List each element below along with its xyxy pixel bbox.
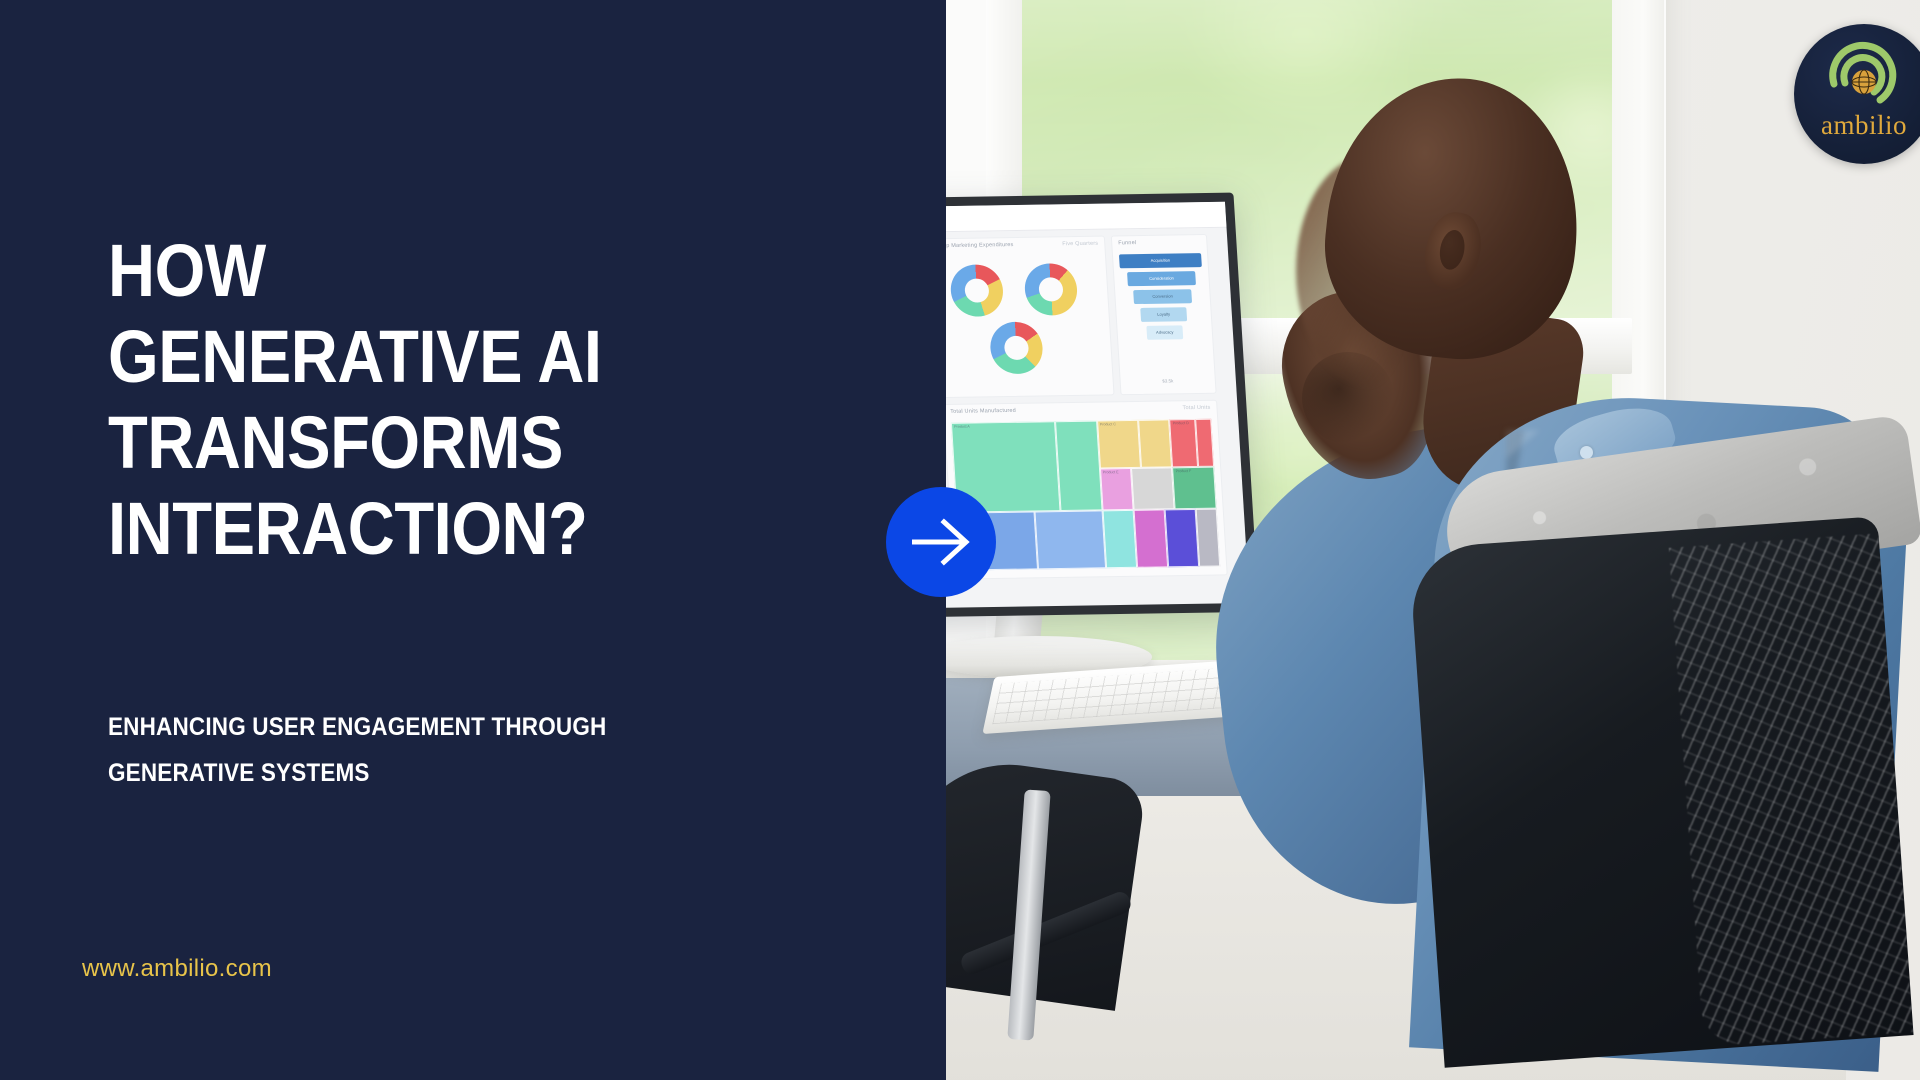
chair-mesh — [1669, 533, 1913, 1046]
poster-canvas: Five Year Q2CC2CQ7Q8Q9D10Q11D12D13D14D15… — [0, 0, 1920, 1080]
page-subtitle: ENHANCING USER ENGAGEMENT THROUGH GENERA… — [108, 704, 792, 796]
website-url[interactable]: www.ambilio.com — [82, 955, 272, 983]
hero-photo: Five Year Q2CC2CQ7Q8Q9D10Q11D12D13D14D15… — [946, 0, 1920, 1080]
page-title: HOW GENERATIVE AI TRANSFORMS INTERACTION… — [108, 228, 803, 572]
arrow-right-icon — [910, 517, 972, 567]
spiral-globe-icon — [1818, 38, 1910, 112]
next-arrow-button[interactable] — [886, 487, 996, 597]
logo-wordmark: ambilio — [1794, 110, 1920, 141]
left-text-panel: HOW GENERATIVE AI TRANSFORMS INTERACTION… — [0, 0, 946, 1080]
